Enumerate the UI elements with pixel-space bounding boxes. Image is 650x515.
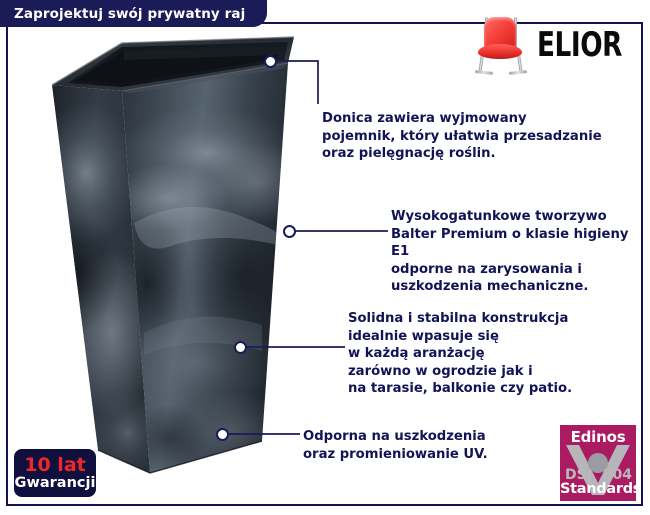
headline-text: Zaprojektuj swój prywatny raj bbox=[14, 6, 245, 22]
feature-text-2: Wysokogatunkowe tworzywo Balter Premium … bbox=[391, 208, 650, 296]
callout-dot-2 bbox=[283, 225, 296, 238]
planter-product-image bbox=[48, 33, 296, 485]
headline-banner: Zaprojektuj swój prywatny raj bbox=[0, 0, 267, 27]
warranty-label: Gwarancji bbox=[15, 475, 96, 491]
brand-logo: ELIOR bbox=[473, 14, 636, 76]
feature-text-4: Odporna na uszkodzenia oraz promieniowan… bbox=[303, 428, 488, 463]
chair-foot-left bbox=[475, 70, 493, 75]
edinos-standards-label: Standards bbox=[560, 481, 636, 497]
callout-dot-4 bbox=[216, 428, 229, 441]
edinos-title: Edinos bbox=[560, 428, 636, 446]
warranty-years: 10 lat bbox=[24, 455, 85, 475]
callout-dot-3 bbox=[234, 341, 247, 354]
chair-seat bbox=[478, 44, 522, 59]
warranty-badge: 10 lat Gwarancji bbox=[14, 449, 96, 497]
feature-text-1: Donica zawiera wyjmowany pojemnik, który… bbox=[322, 110, 602, 163]
red-chair-icon bbox=[473, 15, 529, 75]
infographic-canvas: Zaprojektuj swój prywatny raj ELIOR bbox=[0, 0, 650, 515]
feature-text-3: Solidna i stabilna konstrukcja idealnie … bbox=[348, 310, 572, 398]
chair-foot-right bbox=[509, 70, 527, 75]
edinos-certification-badge: Edinos DSI 804 Standards bbox=[560, 425, 636, 501]
callout-dot-1 bbox=[264, 55, 277, 68]
brand-name: ELIOR bbox=[537, 25, 622, 65]
